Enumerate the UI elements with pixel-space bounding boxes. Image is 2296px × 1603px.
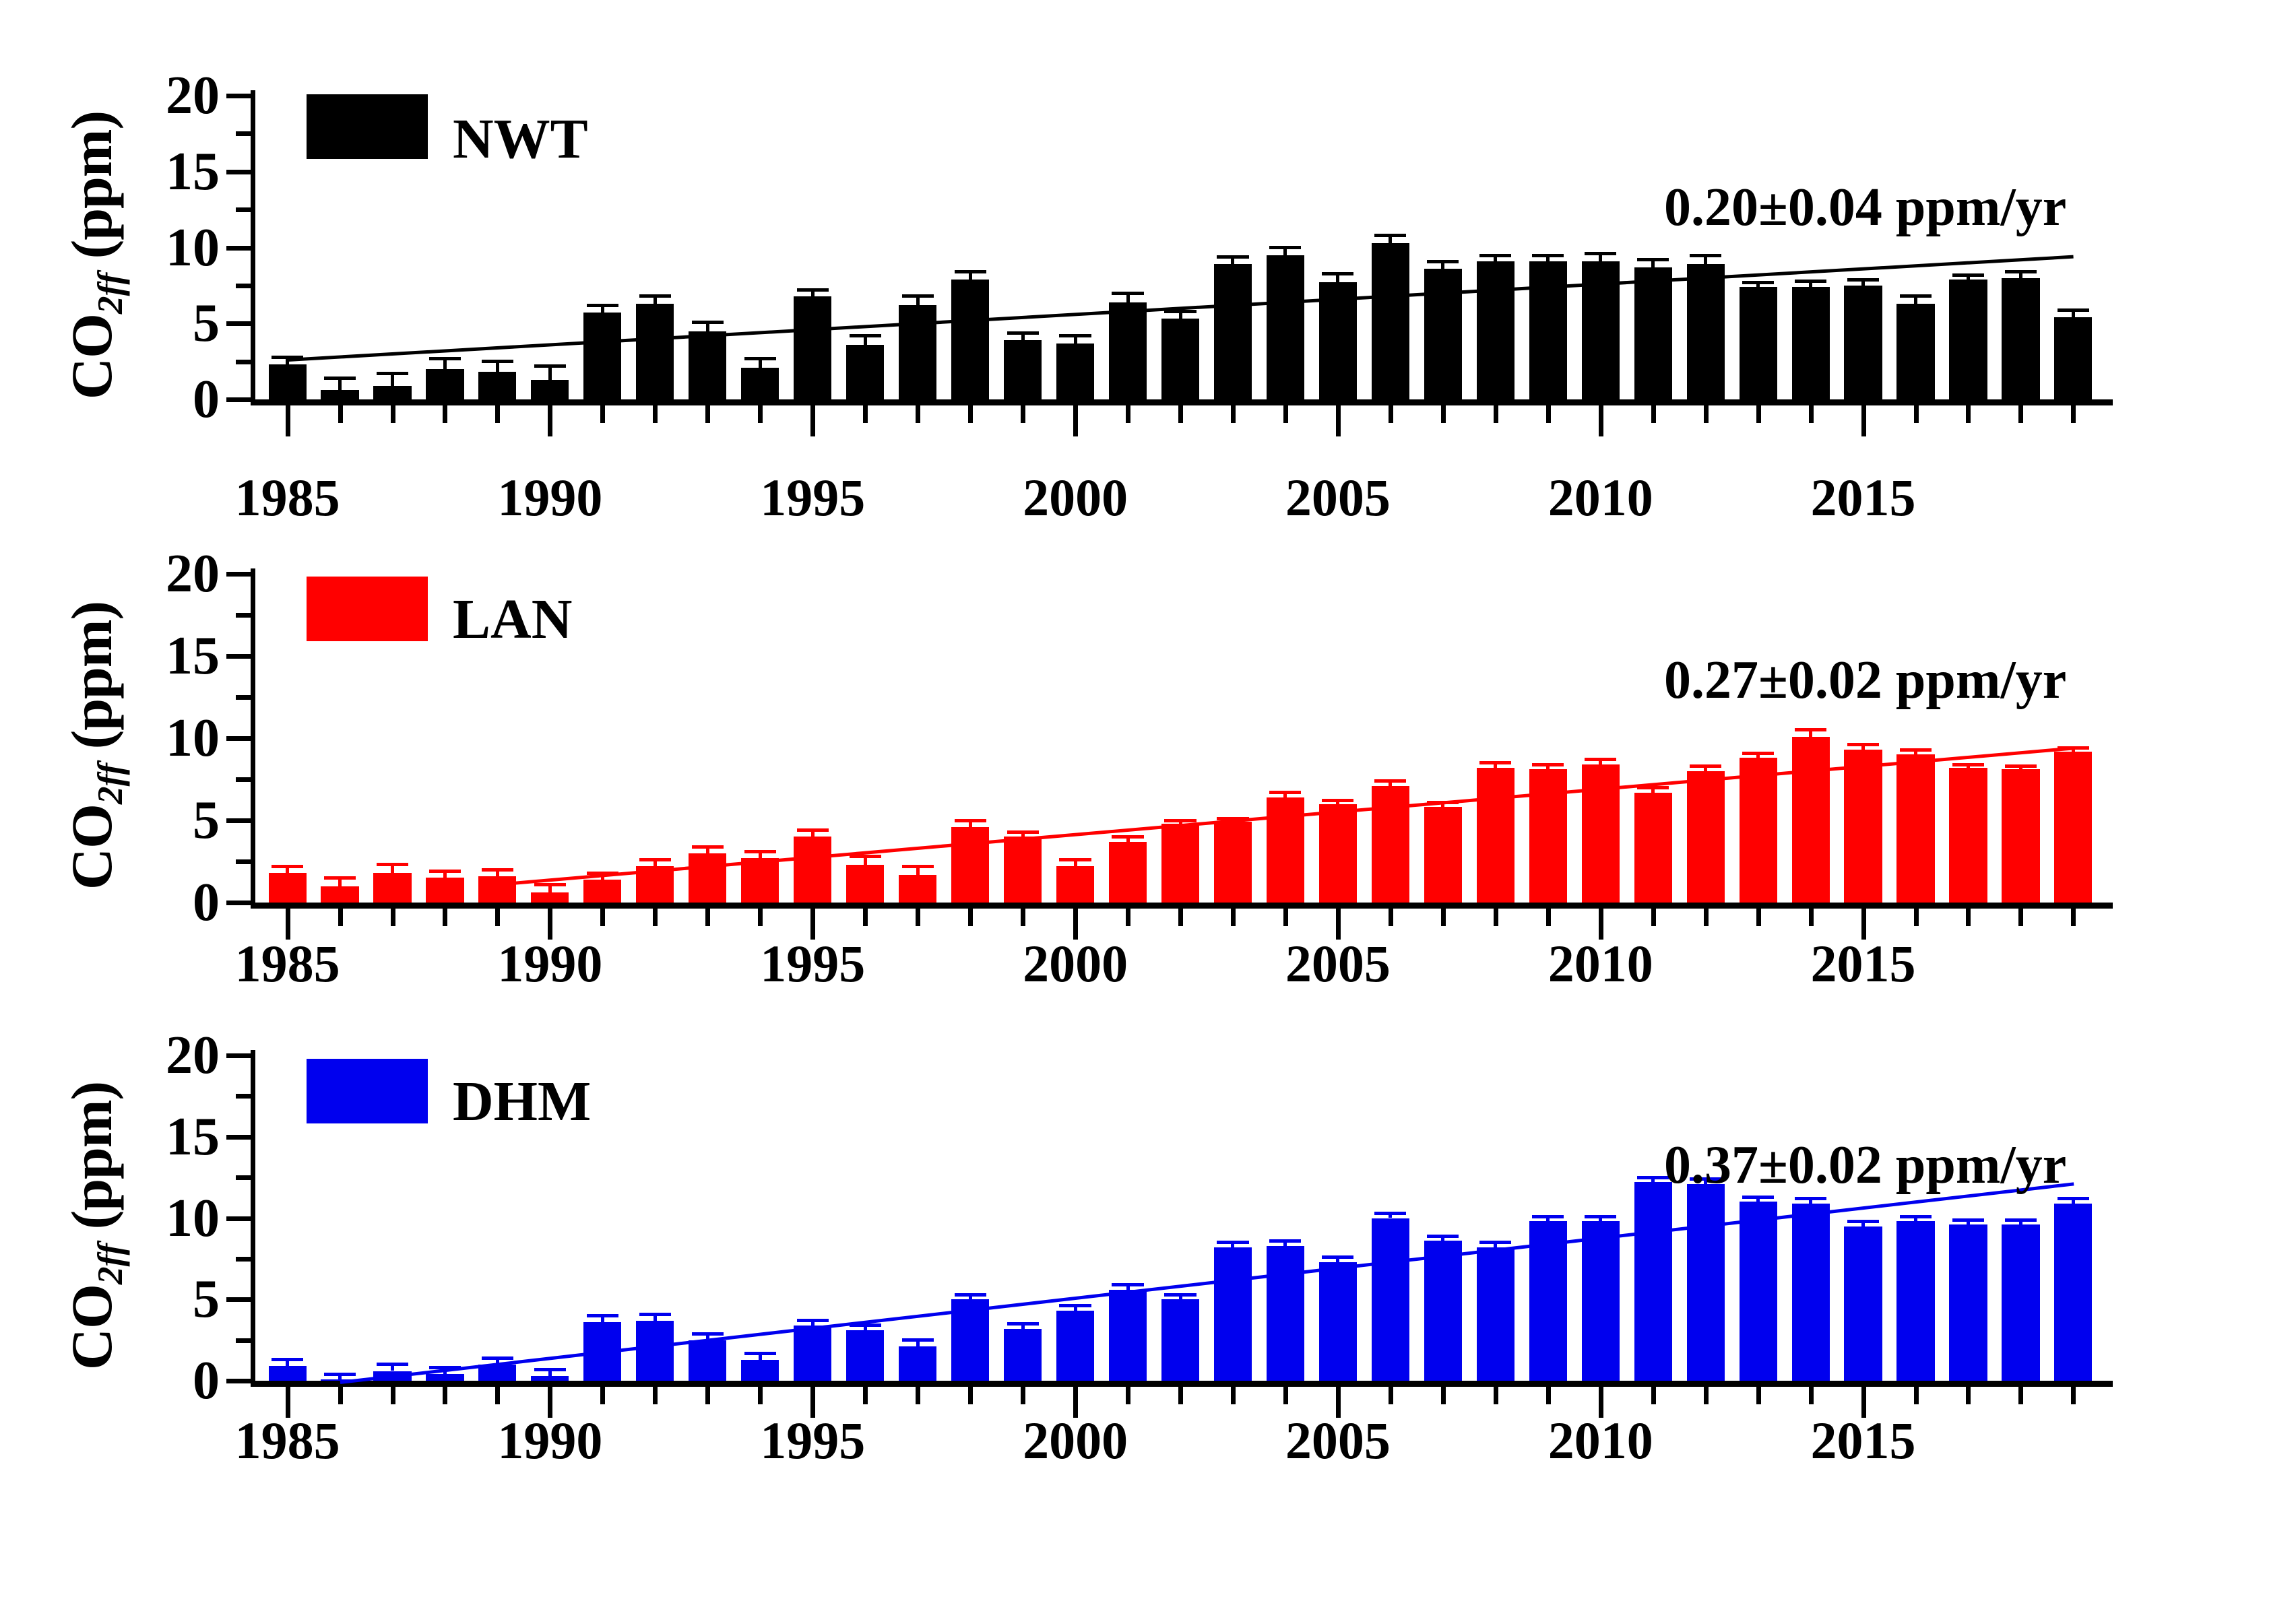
x-tick-label-2010: 2010 — [1548, 938, 1653, 990]
y-tick-2-5 — [236, 1338, 251, 1343]
y-tick-label-10: 10 — [0, 1191, 220, 1245]
x-tick-label-1990: 1990 — [497, 938, 602, 990]
x-tick-2003 — [1231, 909, 1236, 926]
bar-lan-2011 — [1634, 793, 1672, 903]
x-tick-2018 — [2018, 909, 2023, 926]
bar-lan-1999 — [1004, 837, 1042, 903]
x-tick-1989 — [495, 1387, 500, 1404]
y-tick-20 — [226, 572, 251, 577]
x-tick-2019 — [2071, 1387, 2076, 1404]
x-tick-1989 — [495, 909, 500, 926]
error-cap-lan-2006 — [1374, 779, 1406, 783]
error-cap-dhm-1985 — [272, 1358, 303, 1361]
error-cap-dhm-2018 — [2005, 1218, 2037, 1222]
error-cap-dhm-2000 — [1059, 1304, 1091, 1307]
x-tick-1988 — [443, 1387, 447, 1404]
y-tick-label-0: 0 — [0, 1354, 220, 1408]
bar-lan-1989 — [478, 876, 516, 903]
bar-lan-1991 — [583, 880, 621, 903]
error-cap-lan-2000 — [1059, 858, 1091, 861]
error-cap-dhm-2002 — [1164, 1293, 1196, 1297]
bar-lan-2000 — [1056, 866, 1094, 903]
x-tick-label-1985: 1985 — [235, 938, 340, 990]
error-cap-dhm-1994 — [744, 1352, 776, 1355]
y-tick-label-5: 5 — [0, 793, 220, 847]
x-tick-1999 — [1021, 1387, 1025, 1404]
x-tick-2006 — [1389, 1387, 1393, 1404]
bar-lan-1998 — [951, 827, 989, 903]
x-tick-2017 — [1966, 909, 1971, 926]
y-tick-label-0: 0 — [0, 876, 220, 929]
bar-dhm-2007 — [1424, 1241, 1462, 1381]
x-tick-2012 — [1704, 1387, 1709, 1404]
error-cap-dhm-2017 — [1952, 1218, 1984, 1222]
bar-lan-2003 — [1214, 822, 1252, 903]
bar-dhm-1993 — [689, 1340, 726, 1381]
bar-dhm-2005 — [1319, 1262, 1357, 1381]
bar-lan-1994 — [741, 858, 779, 903]
bar-dhm-1990 — [531, 1376, 569, 1381]
x-tick-1991 — [600, 1387, 605, 1404]
bar-dhm-2002 — [1161, 1299, 1199, 1381]
error-cap-lan-1985 — [272, 865, 303, 868]
bar-lan-2008 — [1477, 768, 1514, 903]
bar-lan-2017 — [1949, 768, 1987, 903]
x-axis-line — [251, 903, 2113, 909]
error-cap-dhm-1991 — [587, 1314, 618, 1317]
x-tick-label-1995: 1995 — [760, 1414, 865, 1467]
bar-dhm-2011 — [1634, 1182, 1672, 1381]
error-cap-lan-1998 — [955, 819, 986, 822]
error-cap-lan-1995 — [797, 828, 829, 832]
x-tick-2013 — [1756, 909, 1761, 926]
y-tick-0 — [226, 1379, 251, 1383]
bar-lan-2019 — [2054, 752, 2092, 903]
x-axis-line — [251, 1381, 2113, 1387]
error-cap-dhm-2014 — [1795, 1197, 1826, 1200]
x-tick-1996 — [863, 909, 868, 926]
error-cap-lan-2009 — [1532, 763, 1564, 766]
error-cap-lan-2012 — [1690, 764, 1721, 768]
bar-dhm-2017 — [1949, 1224, 1987, 1381]
x-tick-1998 — [968, 1387, 973, 1404]
bar-dhm-1994 — [741, 1360, 779, 1381]
y-tick-17-5 — [236, 613, 251, 618]
x-tick-2008 — [1494, 909, 1498, 926]
chart-panel-dhm: CO2ff (ppm)05101520198519901995200020052… — [0, 0, 2296, 512]
error-cap-lan-1994 — [744, 850, 776, 853]
error-cap-dhm-1997 — [902, 1338, 934, 1342]
error-cap-dhm-2010 — [1585, 1215, 1616, 1218]
x-tick-2016 — [1914, 1387, 1919, 1404]
x-tick-2001 — [1126, 909, 1130, 926]
error-cap-lan-1997 — [902, 865, 934, 868]
x-tick-label-2015: 2015 — [1811, 938, 1916, 990]
error-cap-dhm-2003 — [1217, 1241, 1248, 1244]
bar-lan-2016 — [1896, 754, 1934, 903]
y-tick-label-10: 10 — [0, 711, 220, 765]
bar-lan-2009 — [1529, 769, 1567, 903]
x-tick-1996 — [863, 1387, 868, 1404]
error-cap-lan-1986 — [324, 876, 356, 880]
x-tick-2004 — [1283, 1387, 1288, 1404]
y-tick-label-20: 20 — [0, 547, 220, 601]
bar-lan-2001 — [1109, 842, 1147, 903]
error-cap-lan-2002 — [1164, 819, 1196, 822]
y-tick-12-5 — [236, 1175, 251, 1180]
y-tick-label-20: 20 — [0, 1028, 220, 1082]
bar-lan-2002 — [1161, 824, 1199, 903]
bar-lan-2010 — [1582, 764, 1620, 903]
error-cap-dhm-1986 — [324, 1373, 356, 1376]
x-tick-label-2010: 2010 — [1548, 1414, 1653, 1467]
error-cap-dhm-2007 — [1427, 1235, 1459, 1238]
bar-dhm-2001 — [1109, 1290, 1147, 1381]
bar-dhm-1996 — [846, 1330, 884, 1381]
error-cap-dhm-2016 — [1900, 1215, 1932, 1218]
error-cap-dhm-1987 — [377, 1363, 408, 1366]
bar-lan-2018 — [2002, 769, 2039, 903]
bar-dhm-2003 — [1214, 1247, 1252, 1381]
error-cap-lan-1999 — [1007, 830, 1039, 834]
bar-dhm-1999 — [1004, 1329, 1042, 1381]
legend-swatch-lan — [307, 577, 428, 641]
error-cap-dhm-2006 — [1374, 1212, 1406, 1215]
bar-lan-2012 — [1687, 771, 1725, 903]
bar-dhm-2018 — [2002, 1224, 2039, 1381]
x-tick-label-1995: 1995 — [760, 938, 865, 990]
x-tick-1986 — [338, 909, 343, 926]
bar-lan-1993 — [689, 853, 726, 903]
x-tick-2002 — [1178, 909, 1183, 926]
y-tick-label-5: 5 — [0, 1272, 220, 1326]
x-tick-1998 — [968, 909, 973, 926]
bar-dhm-2004 — [1267, 1246, 1304, 1381]
x-tick-2014 — [1809, 909, 1814, 926]
x-tick-label-2005: 2005 — [1285, 938, 1391, 990]
error-cap-dhm-2005 — [1322, 1255, 1353, 1259]
x-tick-2011 — [1651, 1387, 1656, 1404]
bar-dhm-1992 — [636, 1321, 674, 1381]
bar-dhm-1988 — [426, 1374, 464, 1381]
error-cap-dhm-1999 — [1007, 1322, 1039, 1326]
trend-rate-annotation-lan: 0.27±0.02 ppm/yr — [1664, 653, 2066, 707]
bar-lan-1986 — [321, 886, 358, 903]
error-cap-dhm-1992 — [639, 1313, 671, 1316]
x-tick-1997 — [916, 1387, 920, 1404]
y-tick-17-5 — [236, 1094, 251, 1099]
error-cap-lan-2005 — [1322, 799, 1353, 802]
x-tick-2019 — [2071, 909, 2076, 926]
bar-dhm-2019 — [2054, 1204, 2092, 1381]
error-cap-lan-1993 — [692, 845, 724, 849]
legend-label-dhm: DHM — [453, 1074, 591, 1130]
error-cap-lan-2015 — [1847, 743, 1879, 746]
bar-lan-2005 — [1319, 804, 1357, 903]
legend-label-lan: LAN — [453, 591, 572, 648]
error-cap-lan-2004 — [1269, 791, 1301, 794]
x-tick-2016 — [1914, 909, 1919, 926]
error-cap-dhm-2013 — [1742, 1196, 1774, 1199]
error-cap-dhm-1993 — [692, 1332, 724, 1336]
bar-lan-1988 — [426, 878, 464, 903]
x-tick-1993 — [705, 909, 710, 926]
error-cap-lan-2001 — [1112, 835, 1143, 839]
x-tick-2007 — [1441, 1387, 1446, 1404]
bar-lan-2007 — [1424, 807, 1462, 903]
bar-dhm-2010 — [1582, 1221, 1620, 1381]
error-cap-dhm-1998 — [955, 1293, 986, 1297]
error-cap-dhm-2008 — [1479, 1241, 1511, 1244]
bar-dhm-2006 — [1372, 1218, 1409, 1381]
x-tick-2004 — [1283, 909, 1288, 926]
error-cap-lan-2017 — [1952, 763, 1984, 766]
bar-dhm-2016 — [1896, 1221, 1934, 1381]
y-tick-15 — [226, 654, 251, 659]
error-cap-lan-2016 — [1900, 748, 1932, 752]
x-tick-label-1985: 1985 — [235, 1414, 340, 1467]
x-tick-1997 — [916, 909, 920, 926]
y-tick-5 — [226, 818, 251, 823]
error-cap-dhm-2009 — [1532, 1215, 1564, 1218]
y-axis-line — [251, 568, 255, 903]
x-tick-1991 — [600, 909, 605, 926]
error-cap-lan-2010 — [1585, 758, 1616, 761]
x-tick-2012 — [1704, 909, 1709, 926]
error-cap-lan-2018 — [2005, 764, 2037, 768]
y-tick-7-5 — [236, 1257, 251, 1262]
error-cap-dhm-2004 — [1269, 1239, 1301, 1243]
bar-dhm-2000 — [1056, 1311, 1094, 1381]
x-tick-label-2000: 2000 — [1023, 1414, 1128, 1467]
y-tick-20 — [226, 1053, 251, 1058]
error-cap-lan-2014 — [1795, 728, 1826, 731]
x-tick-2011 — [1651, 909, 1656, 926]
x-tick-label-2005: 2005 — [1285, 1414, 1391, 1467]
error-cap-dhm-1990 — [534, 1368, 566, 1371]
x-tick-1994 — [758, 909, 763, 926]
error-cap-dhm-1989 — [482, 1356, 513, 1360]
error-cap-lan-2013 — [1742, 752, 1774, 755]
x-tick-2001 — [1126, 1387, 1130, 1404]
x-tick-2018 — [2018, 1387, 2023, 1404]
error-cap-dhm-2019 — [2058, 1197, 2089, 1200]
x-tick-1994 — [758, 1387, 763, 1404]
x-tick-1987 — [391, 909, 395, 926]
x-tick-2009 — [1546, 909, 1551, 926]
bar-lan-2014 — [1792, 737, 1830, 903]
error-cap-dhm-2001 — [1112, 1283, 1143, 1286]
y-tick-10 — [226, 1216, 251, 1221]
x-tick-1987 — [391, 1387, 395, 1404]
x-tick-2017 — [1966, 1387, 1971, 1404]
bar-dhm-2012 — [1687, 1184, 1725, 1381]
bar-dhm-2015 — [1844, 1226, 1882, 1381]
error-cap-dhm-1995 — [797, 1319, 829, 1322]
bar-dhm-2013 — [1740, 1202, 1777, 1381]
y-tick-12-5 — [236, 695, 251, 700]
x-tick-2013 — [1756, 1387, 1761, 1404]
error-cap-lan-1992 — [639, 858, 671, 861]
bar-dhm-2008 — [1477, 1247, 1514, 1381]
y-tick-7-5 — [236, 777, 251, 782]
bar-lan-2015 — [1844, 750, 1882, 903]
y-tick-0 — [226, 901, 251, 905]
error-cap-lan-1989 — [482, 868, 513, 872]
x-tick-label-2015: 2015 — [1811, 1414, 1916, 1467]
y-tick-label-15: 15 — [0, 629, 220, 683]
error-cap-lan-1987 — [377, 863, 408, 866]
bar-lan-2013 — [1740, 758, 1777, 903]
error-cap-dhm-2015 — [1847, 1220, 1879, 1223]
x-tick-label-1990: 1990 — [497, 1414, 602, 1467]
error-cap-lan-1988 — [429, 870, 461, 873]
x-tick-1988 — [443, 909, 447, 926]
x-tick-2014 — [1809, 1387, 1814, 1404]
y-tick-10 — [226, 736, 251, 741]
x-tick-2003 — [1231, 1387, 1236, 1404]
y-tick-15 — [226, 1135, 251, 1140]
error-cap-lan-1990 — [534, 883, 566, 886]
bar-lan-1990 — [531, 892, 569, 903]
error-cap-lan-2008 — [1479, 761, 1511, 764]
x-tick-2006 — [1389, 909, 1393, 926]
x-tick-1986 — [338, 1387, 343, 1404]
bar-dhm-1985 — [269, 1366, 307, 1381]
x-tick-1992 — [653, 1387, 658, 1404]
y-tick-2-5 — [236, 859, 251, 864]
y-tick-label-15: 15 — [0, 1110, 220, 1164]
bar-dhm-1995 — [794, 1326, 831, 1381]
legend-swatch-dhm — [307, 1059, 428, 1123]
x-tick-2007 — [1441, 909, 1446, 926]
y-axis-line — [251, 1050, 255, 1381]
trend-rate-annotation-dhm: 0.37±0.02 ppm/yr — [1664, 1138, 2066, 1192]
bar-lan-1997 — [899, 875, 936, 903]
bar-lan-1987 — [373, 873, 411, 903]
x-tick-label-2000: 2000 — [1023, 938, 1128, 990]
bar-lan-2006 — [1372, 786, 1409, 903]
x-tick-1992 — [653, 909, 658, 926]
figure-co2ff-trends: CO2ff (ppm)05101520198519901995200020052… — [0, 0, 2296, 1603]
x-tick-2009 — [1546, 1387, 1551, 1404]
bar-lan-1985 — [269, 873, 307, 903]
bar-lan-1996 — [846, 865, 884, 903]
x-tick-2008 — [1494, 1387, 1498, 1404]
bar-dhm-2014 — [1792, 1204, 1830, 1381]
y-tick-5 — [226, 1297, 251, 1302]
x-tick-2002 — [1178, 1387, 1183, 1404]
x-tick-1993 — [705, 1387, 710, 1404]
x-tick-1999 — [1021, 909, 1025, 926]
bar-dhm-1997 — [899, 1346, 936, 1381]
bar-lan-1995 — [794, 837, 831, 903]
